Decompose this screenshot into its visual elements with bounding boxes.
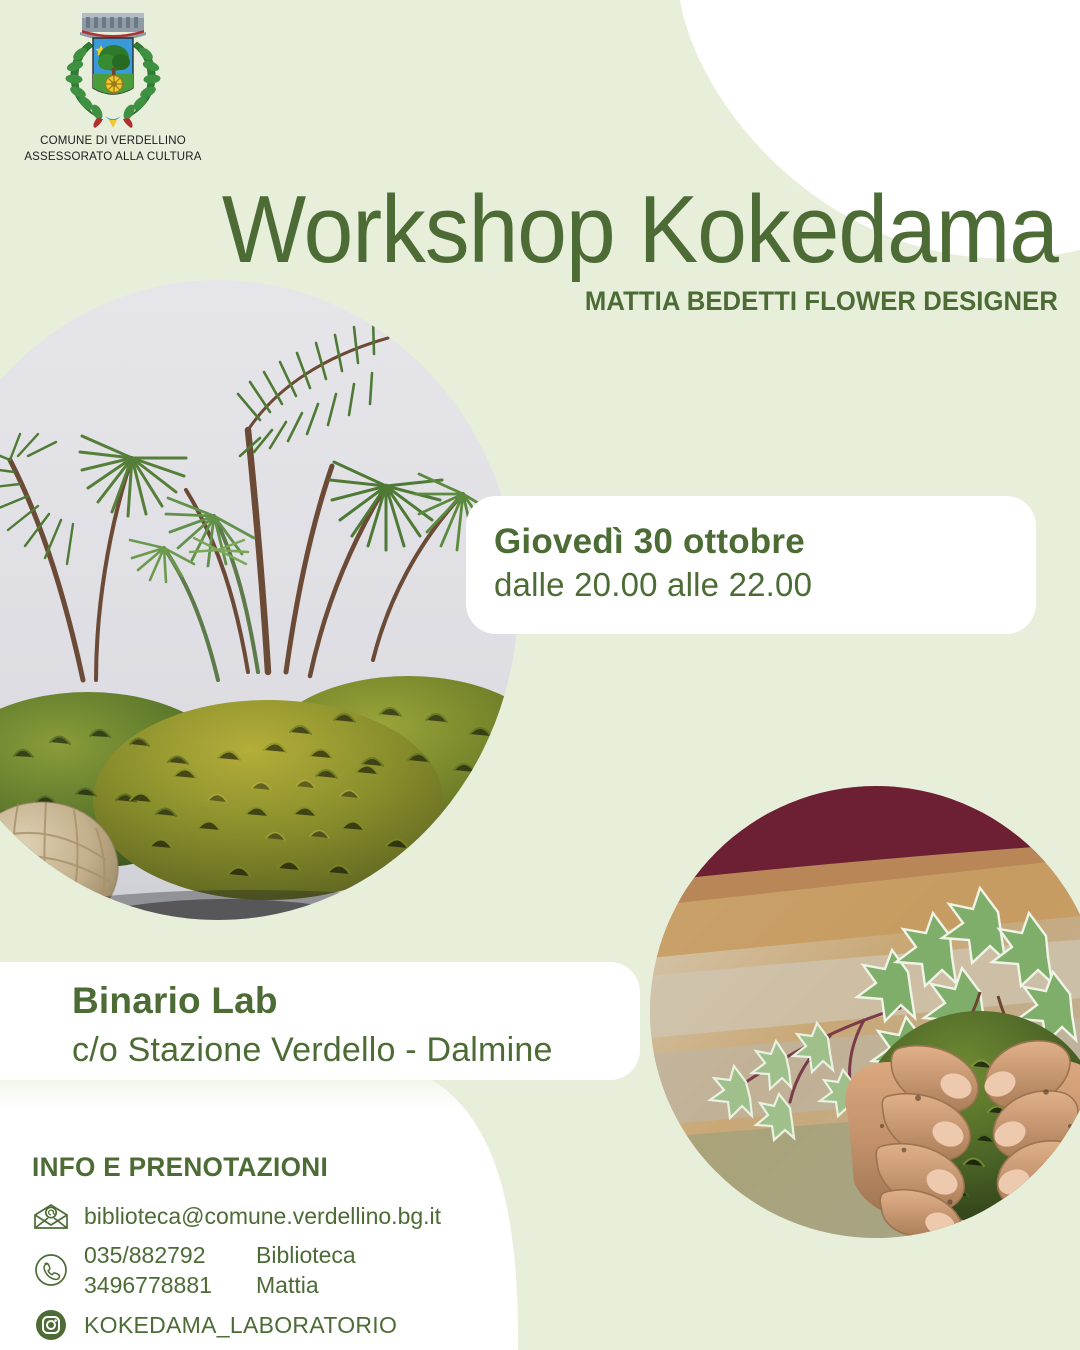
phone-entry: 035/882792 Biblioteca xyxy=(84,1240,356,1270)
event-time: dalle 20.00 alle 22.00 xyxy=(494,564,1036,607)
contact-instagram-handle: KOKEDAMA_LABORATORIO xyxy=(84,1310,397,1340)
place-card: Binario Lab c/o Stazione Verdello - Dalm… xyxy=(0,962,640,1080)
page-subtitle: MATTIA BEDETTI FLOWER DESIGNER xyxy=(585,286,1058,317)
phone-number: 3496778881 xyxy=(84,1270,242,1300)
contact-phone-row[interactable]: 035/882792 Biblioteca 3496778881 Mattia xyxy=(32,1240,441,1301)
logo-caption: COMUNE DI VERDELLINO ASSESSORATO ALLA CU… xyxy=(8,134,218,165)
phone-icon xyxy=(32,1253,70,1287)
logo-caption-line-2: ASSESSORATO ALLA CULTURA xyxy=(8,150,218,166)
contact-instagram-row[interactable]: KOKEDAMA_LABORATORIO xyxy=(32,1308,441,1342)
page-title: Workshop Kokedama xyxy=(74,182,1058,278)
verdellino-coat-of-arms-icon xyxy=(53,4,173,130)
contact-email-row[interactable]: biblioteca@comune.verdellino.bg.it xyxy=(32,1199,441,1233)
contact-email-value: biblioteca@comune.verdellino.bg.it xyxy=(84,1201,441,1231)
event-day: Giovedì 30 ottobre xyxy=(494,520,1036,564)
instagram-icon xyxy=(32,1308,70,1342)
venue-name: Binario Lab xyxy=(72,978,640,1024)
phone-label: Mattia xyxy=(256,1270,319,1300)
hands-holding-kokedama-photo xyxy=(650,786,1080,1238)
date-card: Giovedì 30 ottobre dalle 20.00 alle 22.0… xyxy=(466,496,1036,634)
venue-address: c/o Stazione Verdello - Dalmine xyxy=(72,1028,640,1072)
logo-caption-line-1: COMUNE DI VERDELLINO xyxy=(8,134,218,150)
info-heading: INFO E PRENOTAZIONI xyxy=(32,1152,429,1183)
envelope-at-icon xyxy=(32,1199,70,1233)
municipality-logo-block: COMUNE DI VERDELLINO ASSESSORATO ALLA CU… xyxy=(8,4,218,165)
info-section: INFO E PRENOTAZIONI biblioteca@comune.ve… xyxy=(32,1152,441,1349)
poster-root: COMUNE DI VERDELLINO ASSESSORATO ALLA CU… xyxy=(0,0,1080,1350)
contact-phone-values: 035/882792 Biblioteca 3496778881 Mattia xyxy=(84,1240,356,1301)
phone-label: Biblioteca xyxy=(256,1240,356,1270)
phone-number: 035/882792 xyxy=(84,1240,242,1270)
phone-entry: 3496778881 Mattia xyxy=(84,1270,356,1300)
